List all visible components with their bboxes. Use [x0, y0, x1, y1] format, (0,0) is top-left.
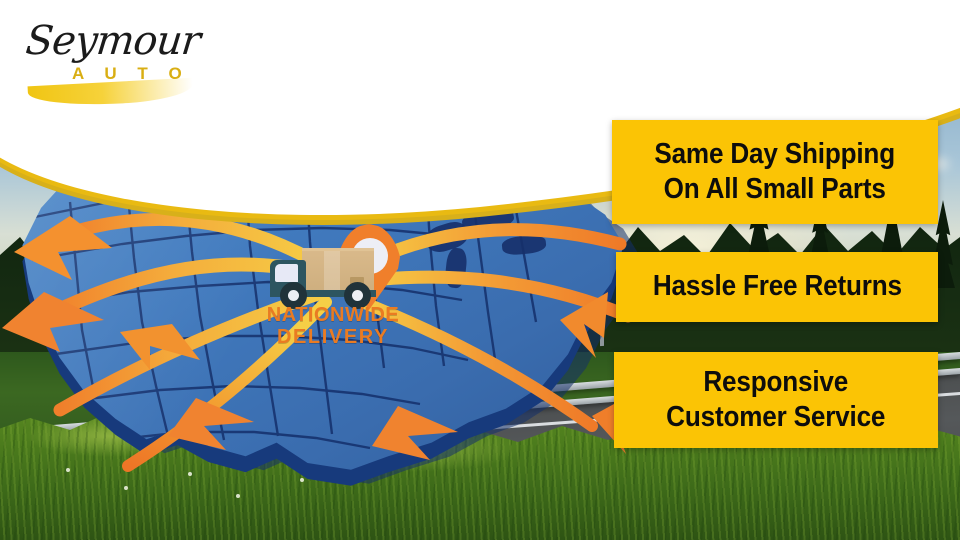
delivery-line-2: DELIVERY [258, 326, 408, 348]
logo-brand-name: Seymour [24, 18, 202, 64]
delivery-caption: NATIONWIDE DELIVERY [258, 304, 408, 349]
truck-window [275, 264, 298, 282]
seymour-auto-logo[interactable]: Seymour A U T O [16, 10, 201, 100]
banner-line-2: On All Small Parts [664, 173, 886, 205]
banner-line-1: Responsive [704, 366, 849, 398]
banner-text: Responsive Customer Service [666, 365, 885, 436]
logo-brand-sub: A U T O [72, 64, 190, 84]
delivery-line-1: NATIONWIDE [258, 304, 408, 326]
banner-same-day-shipping: Same Day Shipping On All Small Parts [612, 120, 938, 224]
promo-banner-image: NATIONWIDE DELIVERY Seymour A U T O Same… [0, 0, 960, 540]
banner-responsive-customer-service: Responsive Customer Service [614, 352, 938, 448]
banner-text: Hassle Free Returns [653, 269, 902, 304]
banner-text: Same Day Shipping On All Small Parts [655, 137, 896, 208]
nationwide-delivery-badge: NATIONWIDE DELIVERY [258, 222, 408, 362]
banner-hassle-free-returns: Hassle Free Returns [616, 252, 938, 322]
banner-line-1: Hassle Free Returns [653, 270, 902, 302]
banner-line-1: Same Day Shipping [655, 138, 896, 170]
banner-line-2: Customer Service [666, 401, 885, 433]
